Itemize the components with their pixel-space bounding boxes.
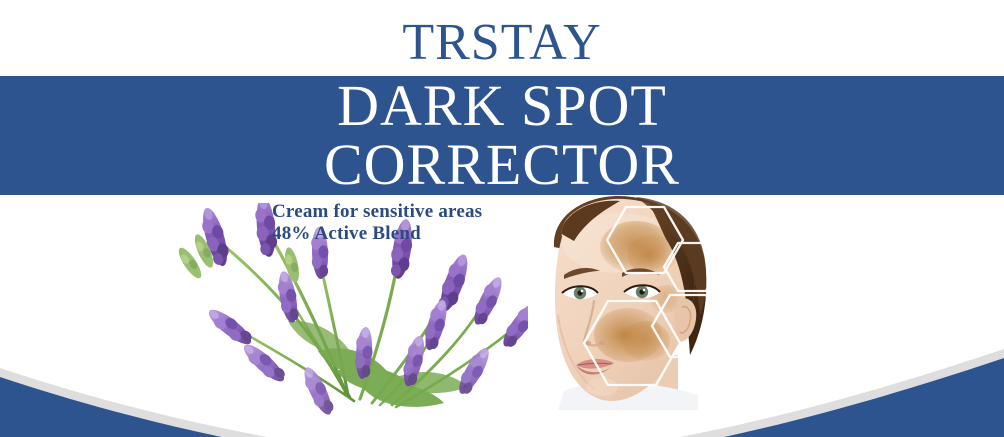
product-banner: TRSTAY DARK SPOT CORRECTOR: [0, 0, 1004, 437]
subtitle-line-2: 48% Active Blend: [272, 223, 482, 245]
brand-name: TRSTAY: [0, 14, 1004, 72]
headline-line-1: DARK SPOT: [0, 76, 1004, 136]
subtitle-line-1: Cream for sensitive areas: [272, 201, 482, 223]
model-face-image: [528, 195, 724, 410]
headline-line-2: CORRECTOR: [0, 135, 1004, 195]
imagery-layer: [0, 195, 1004, 437]
subtitle-block: Cream for sensitive areas 48% Active Ble…: [272, 201, 482, 245]
